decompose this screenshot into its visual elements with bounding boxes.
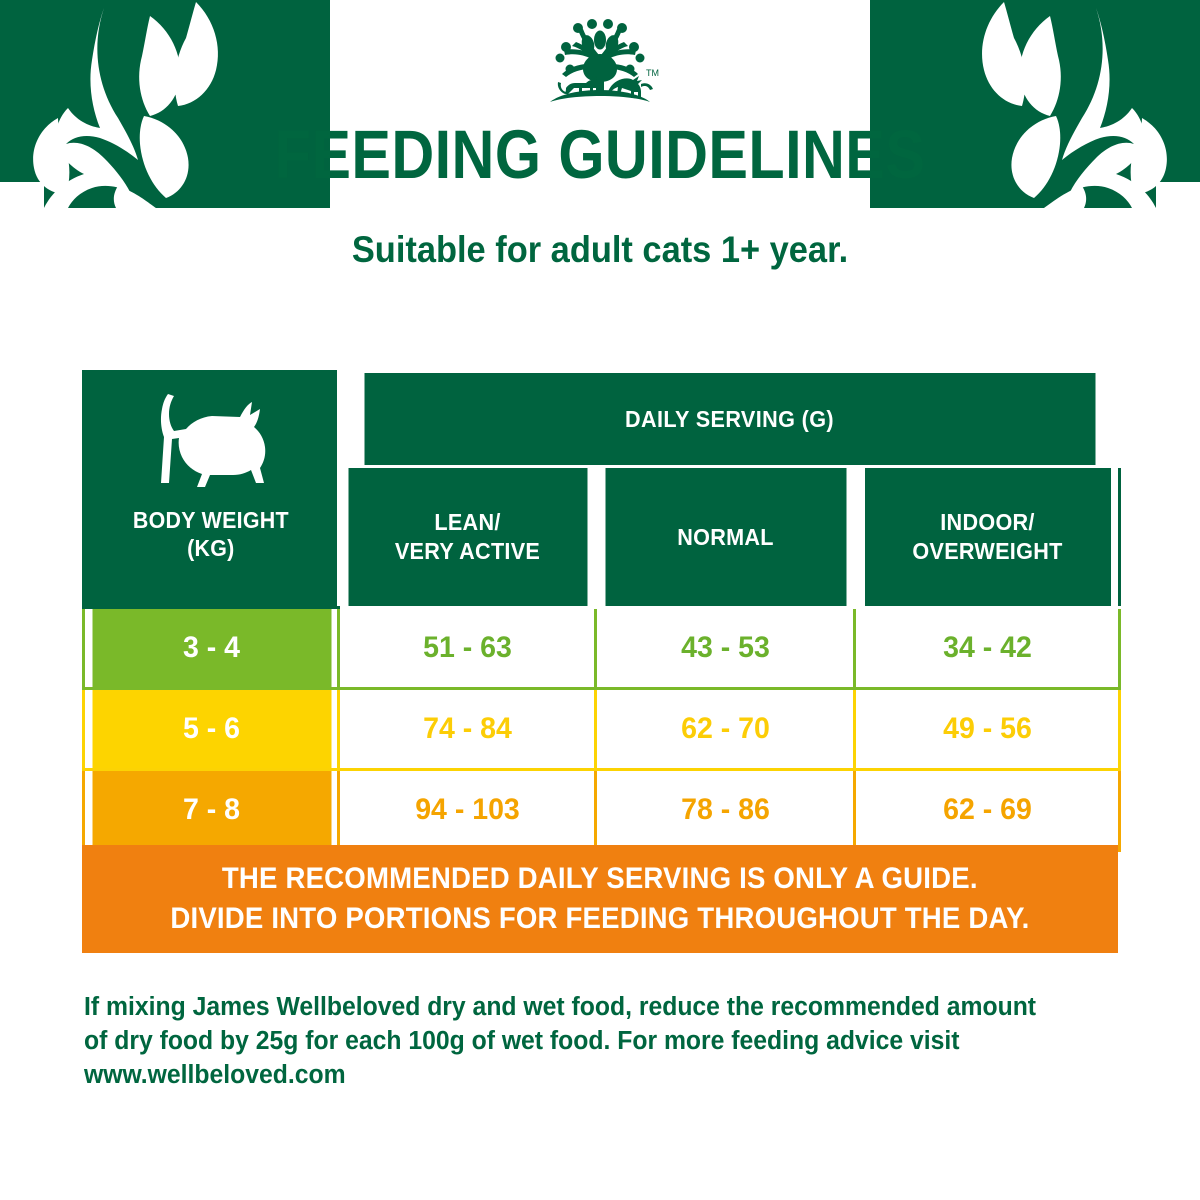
row-normal-cell: 43 - 53 [602,608,848,689]
footer-line-2: of dry food by 25g for each 100g of wet … [84,1024,1087,1058]
footer-website: www.wellbeloved.com [84,1058,1087,1092]
col-header-line2: VERY ACTIVE [394,538,539,564]
banner-line-2: DIVIDE INTO PORTIONS FOR FEEDING THROUGH… [170,899,1029,939]
row-indoor-overweight-cell: 34 - 42 [861,608,1113,689]
row-lean-very-active-cell: 51 - 63 [345,608,589,689]
col-header-line1: INDOOR/ [940,509,1034,535]
column-header-normal: NORMAL [603,467,846,608]
body-weight-label-line1: BODY WEIGHT [133,507,289,533]
trademark-mark: TM [646,68,659,78]
column-header-indoor-overweight: INDOOR/ OVERWEIGHT [862,467,1111,608]
banner-line-1: THE RECOMMENDED DAILY SERVING IS ONLY A … [222,859,978,899]
body-weight-header-cell: BODY WEIGHT (KG) [84,372,339,608]
guide-notice-banner: THE RECOMMENDED DAILY SERVING IS ONLY A … [82,845,1118,953]
footer-line-1: If mixing James Wellbeloved dry and wet … [84,990,1087,1024]
table-row: 5 - 6 74 - 84 62 - 70 49 - 56 [84,689,1120,770]
row-weight-cell: 7 - 8 [90,770,332,851]
column-header-lean-very-active: LEAN/ VERY ACTIVE [346,467,588,608]
row-indoor-overweight-cell: 62 - 69 [861,770,1113,851]
row-normal-cell: 62 - 70 [602,689,848,770]
tree-with-paw-cat-dog-logo-icon: TM [536,14,664,114]
table-header-top-row: BODY WEIGHT (KG) DAILY SERVING (G) [84,372,1120,467]
cat-silhouette-icon [136,391,286,496]
page-title: FEEDING GUIDELINES [84,118,1116,192]
row-weight-cell: 5 - 6 [90,689,332,770]
body-weight-label-line2: (KG) [187,535,234,561]
row-indoor-overweight-cell: 49 - 56 [861,689,1113,770]
col-header-line1: LEAN/ [434,509,500,535]
daily-serving-header-cell: DAILY SERVING (G) [362,372,1096,467]
table-row: 7 - 8 94 - 103 78 - 86 62 - 69 [84,770,1120,851]
page-subtitle: Suitable for adult cats 1+ year. [42,228,1158,272]
row-weight-cell: 3 - 4 [90,608,332,689]
row-lean-very-active-cell: 94 - 103 [345,770,589,851]
footer-note: If mixing James Wellbeloved dry and wet … [84,990,1087,1092]
table-row: 3 - 4 51 - 63 43 - 53 34 - 42 [84,608,1120,689]
row-lean-very-active-cell: 74 - 84 [345,689,589,770]
brand-logo: TM [0,14,1200,116]
row-normal-cell: 78 - 86 [602,770,848,851]
col-header-line2: OVERWEIGHT [912,538,1062,564]
col-header-line1: NORMAL [677,524,774,550]
feeding-guidelines-table: BODY WEIGHT (KG) DAILY SERVING (G) LEAN/… [82,370,1118,852]
